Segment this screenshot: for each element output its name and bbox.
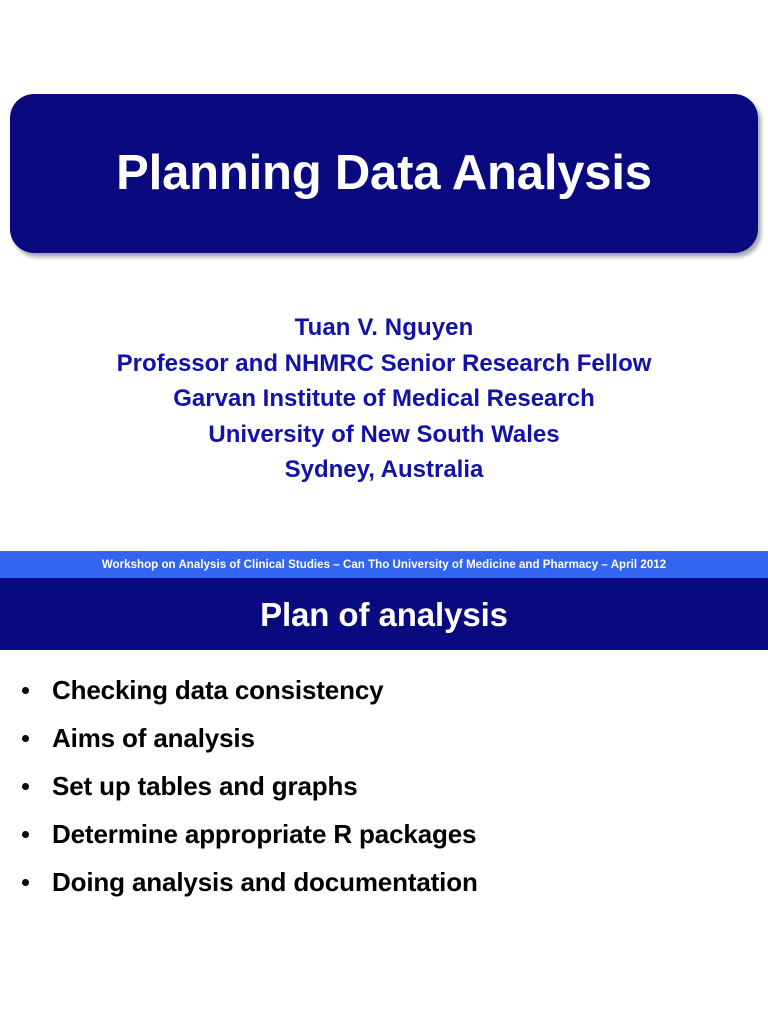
workshop-footer-text: Workshop on Analysis of Clinical Studies…: [102, 559, 666, 571]
bullet-dot-icon: [22, 735, 29, 742]
bullet-dot-icon: [22, 687, 29, 694]
list-item-label: Determine appropriate R packages: [52, 819, 476, 850]
author-name: Tuan V. Nguyen: [0, 310, 768, 346]
list-item-label: Aims of analysis: [52, 723, 255, 754]
bullet-dot-icon: [22, 831, 29, 838]
presentation-title: Planning Data Analysis: [116, 149, 652, 198]
plan-of-analysis-slide: Plan of analysis Checking data consisten…: [0, 578, 768, 1024]
bullet-dot-icon: [22, 879, 29, 886]
section-title: Plan of analysis: [260, 598, 508, 631]
author-university: University of New South Wales: [0, 417, 768, 453]
section-header-bar: Plan of analysis: [0, 578, 768, 650]
author-block: Tuan V. Nguyen Professor and NHMRC Senio…: [0, 310, 768, 488]
title-banner: Planning Data Analysis: [10, 94, 758, 253]
list-item-label: Doing analysis and documentation: [52, 867, 478, 898]
author-position: Professor and NHMRC Senior Research Fell…: [0, 346, 768, 382]
list-item: Determine appropriate R packages: [0, 810, 768, 858]
author-institute: Garvan Institute of Medical Research: [0, 381, 768, 417]
plan-bullet-list: Checking data consistency Aims of analys…: [0, 666, 768, 906]
list-item-label: Set up tables and graphs: [52, 771, 358, 802]
list-item: Checking data consistency: [0, 666, 768, 714]
workshop-footer-bar: Workshop on Analysis of Clinical Studies…: [0, 551, 768, 578]
author-location: Sydney, Australia: [0, 452, 768, 488]
title-slide: Planning Data Analysis Tuan V. Nguyen Pr…: [0, 0, 768, 578]
bullet-dot-icon: [22, 783, 29, 790]
list-item: Aims of analysis: [0, 714, 768, 762]
list-item: Doing analysis and documentation: [0, 858, 768, 906]
list-item: Set up tables and graphs: [0, 762, 768, 810]
list-item-label: Checking data consistency: [52, 675, 383, 706]
